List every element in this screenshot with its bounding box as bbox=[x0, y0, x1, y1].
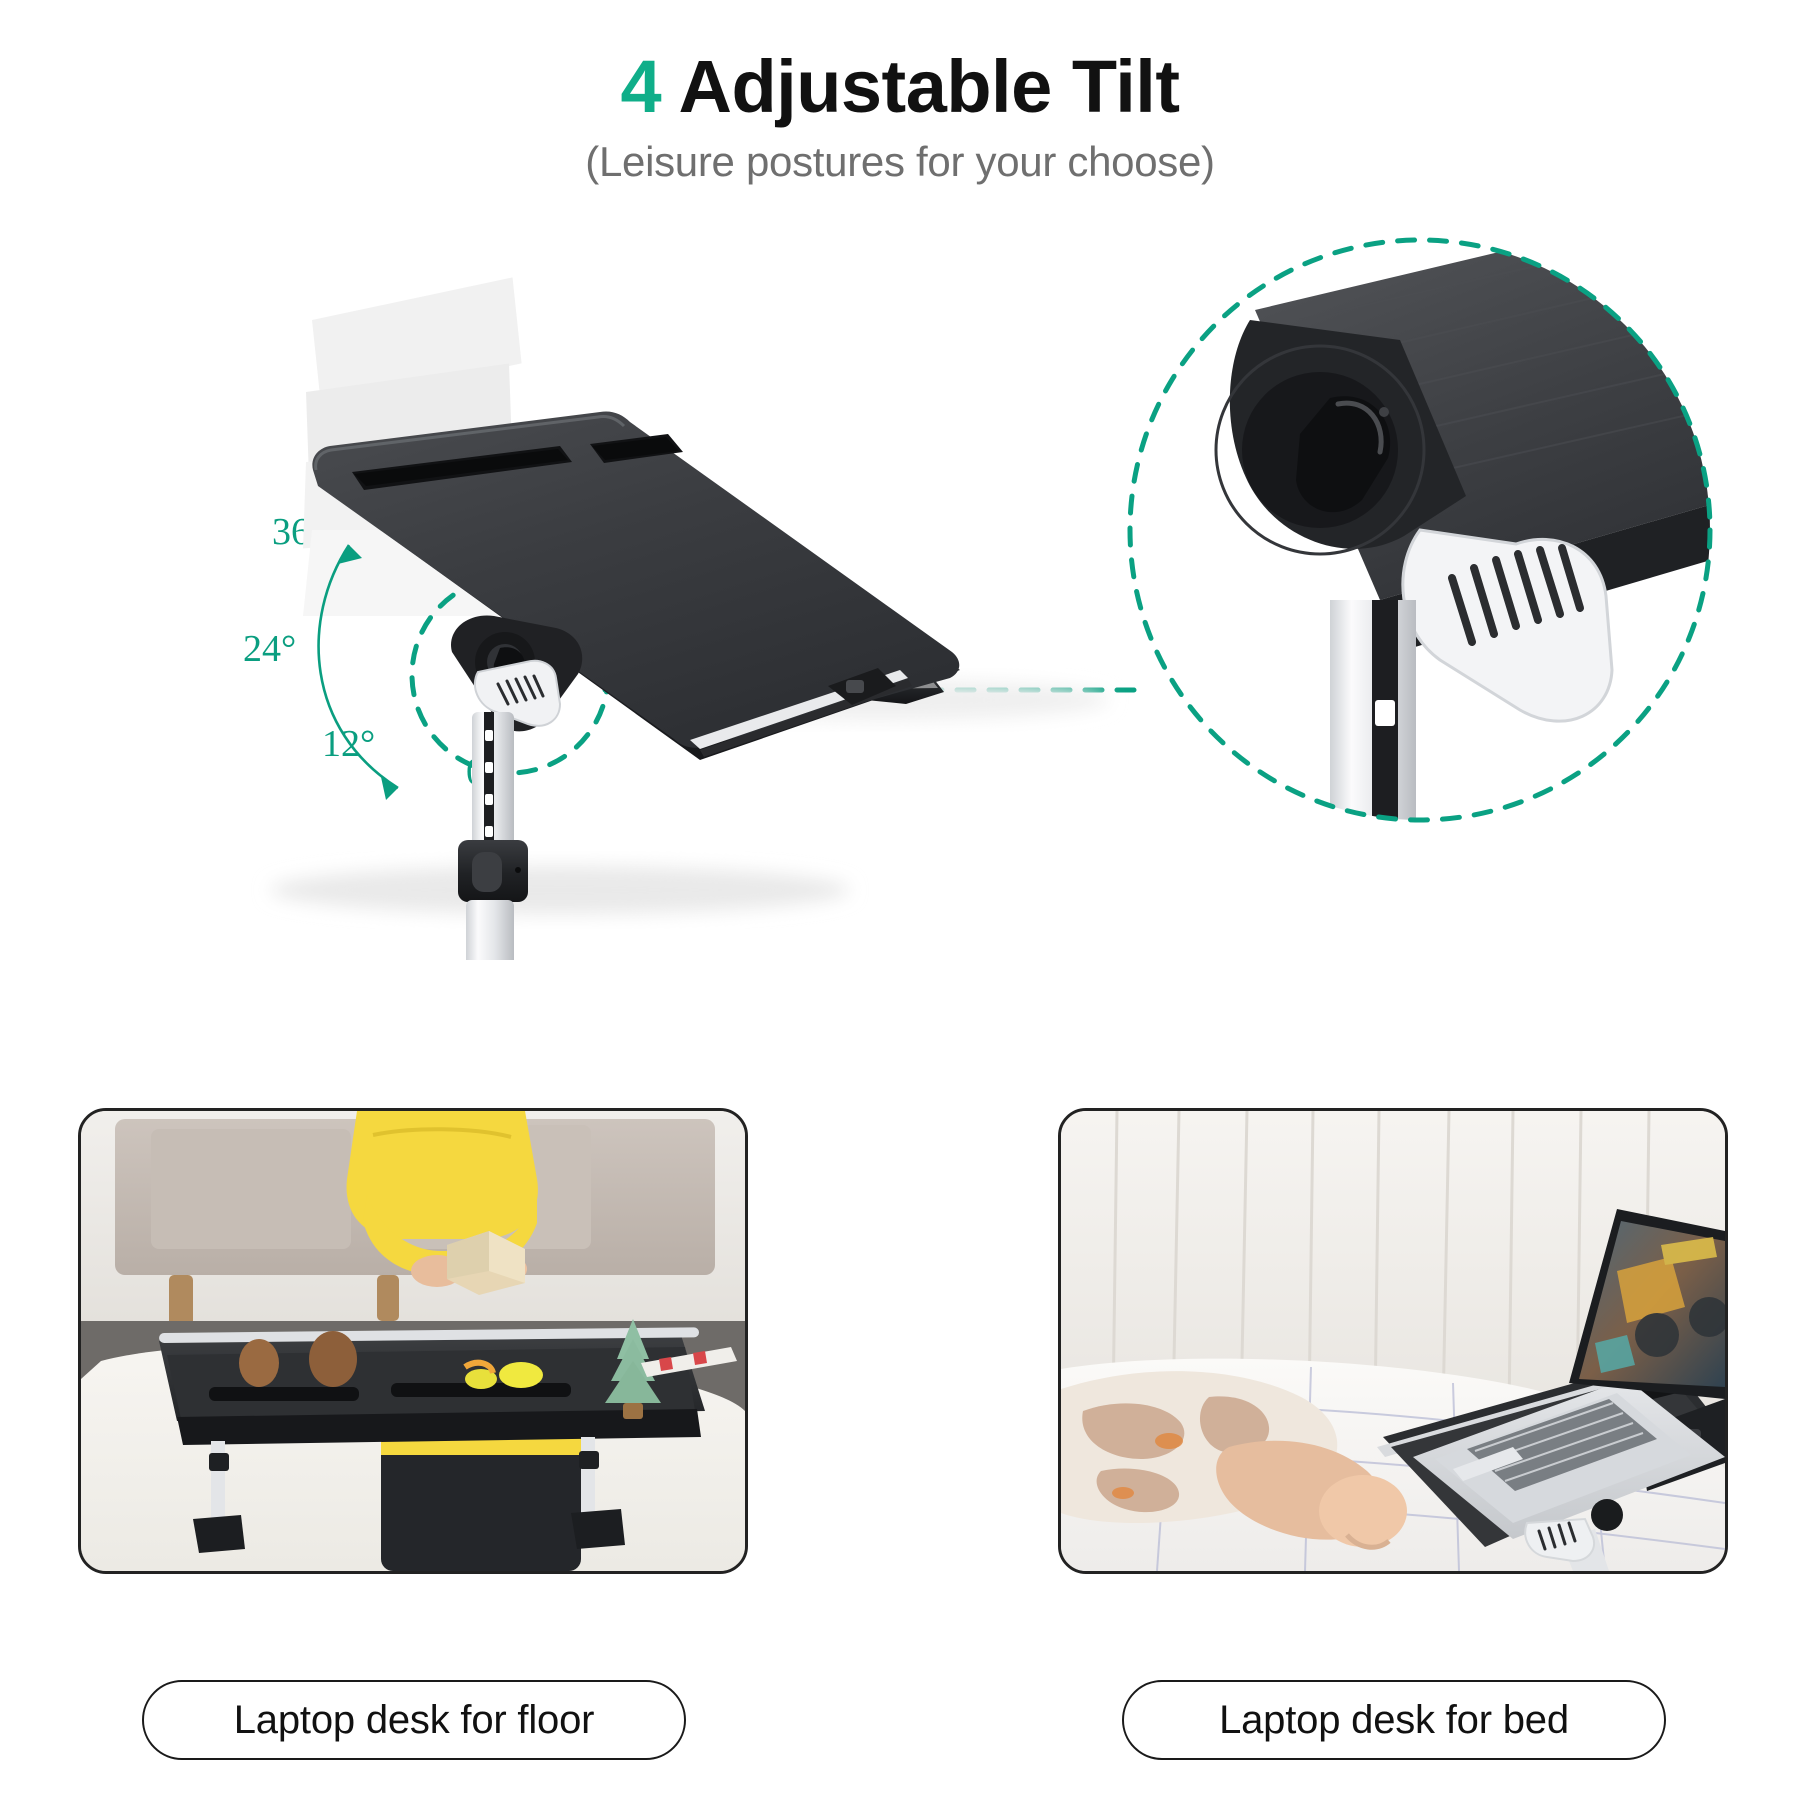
header: 4 Adjustable Tilt (Leisure postures for … bbox=[0, 0, 1800, 210]
desk-front-leg-column bbox=[458, 712, 528, 960]
page-subtitle: (Leisure postures for your choose) bbox=[0, 126, 1800, 186]
product-illustration bbox=[0, 200, 1800, 960]
photo-floor-art bbox=[81, 1111, 745, 1571]
photo-laptop-desk-for-floor bbox=[78, 1108, 748, 1574]
caption-laptop-desk-for-bed: Laptop desk for bed bbox=[1122, 1680, 1666, 1760]
page-title: 4 Adjustable Tilt bbox=[0, 0, 1800, 126]
photo-bed-art bbox=[1061, 1111, 1725, 1571]
title-text: Adjustable Tilt bbox=[679, 45, 1180, 128]
hero-illustration: 36° 24° 12° 0° bbox=[0, 200, 1800, 960]
photo-laptop-desk-for-bed bbox=[1058, 1108, 1728, 1574]
title-number: 4 bbox=[621, 45, 662, 128]
tilt-hinge-assembly bbox=[451, 615, 582, 731]
desk-main bbox=[270, 411, 1110, 960]
hinge-knob-magnified-detail bbox=[1130, 200, 1800, 820]
caption-laptop-desk-for-floor: Laptop desk for floor bbox=[142, 1680, 686, 1760]
